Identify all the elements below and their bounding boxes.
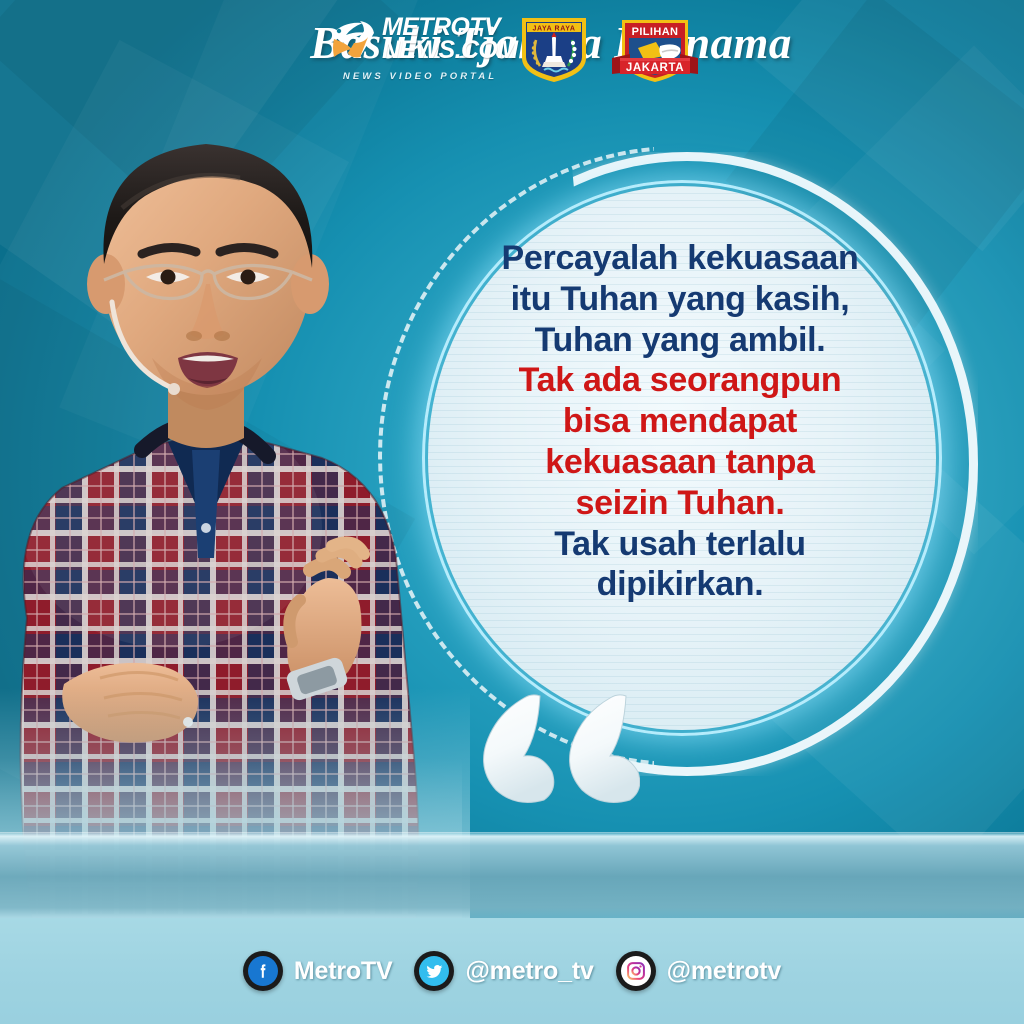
social-links: MetroTV@metro_tv@metrotv — [0, 918, 1024, 1024]
quote-line: seizin Tuhan. — [448, 483, 912, 524]
twitter-icon[interactable] — [414, 951, 454, 991]
social-item-twitter[interactable]: @metro_tv — [414, 951, 593, 991]
quote-line: Percayalah kekuasaan — [448, 238, 912, 279]
svg-text:JAYA RAYA: JAYA RAYA — [532, 26, 575, 33]
twitter-icon-glyph — [419, 956, 449, 986]
poster-canvas: METROTV NEWS.COM NEWS VIDEO PORTAL JAYA … — [0, 0, 1024, 1024]
instagram-icon[interactable] — [616, 951, 656, 991]
quote-line: kekuasaan tanpa — [448, 442, 912, 483]
attribution-band — [0, 832, 1024, 918]
jakarta-provincial-emblem: JAYA RAYA — [516, 12, 592, 86]
quote-line: Tak ada seorangpun — [448, 360, 912, 401]
social-item-instagram[interactable]: @metrotv — [616, 951, 781, 991]
quote-line: Tuhan yang ambil. — [448, 320, 912, 361]
social-handle: @metrotv — [667, 957, 781, 986]
logo-line-2: NEWS.COM — [382, 39, 517, 62]
pilihan-jakarta-badge: PILIHAN JAKARTA — [608, 12, 702, 86]
quote-line: itu Tuhan yang kasih, — [448, 279, 912, 320]
svg-text:PILIHAN: PILIHAN — [632, 26, 679, 38]
quote-text: Percayalah kekuasaanitu Tuhan yang kasih… — [448, 238, 912, 605]
quotation-mark-icon — [480, 690, 640, 805]
metrotvnews-logo[interactable]: METROTV NEWS.COM NEWS VIDEO PORTAL — [330, 16, 510, 82]
svg-text:JAKARTA: JAKARTA — [626, 62, 684, 74]
metro-bird-icon — [330, 17, 376, 61]
facebook-icon[interactable] — [243, 951, 283, 991]
logo-tagline: NEWS VIDEO PORTAL — [330, 71, 510, 82]
quote-line: Tak usah terlalu — [448, 524, 912, 565]
social-handle: @metro_tv — [465, 957, 593, 986]
social-item-facebook[interactable]: MetroTV — [243, 951, 393, 991]
header-bar: METROTV NEWS.COM NEWS VIDEO PORTAL JAYA … — [0, 0, 1024, 96]
quote-line: dipikirkan. — [448, 564, 912, 605]
quote-line: bisa mendapat — [448, 401, 912, 442]
social-handle: MetroTV — [294, 957, 393, 986]
facebook-icon-glyph — [248, 956, 278, 986]
instagram-icon-glyph — [621, 956, 651, 986]
